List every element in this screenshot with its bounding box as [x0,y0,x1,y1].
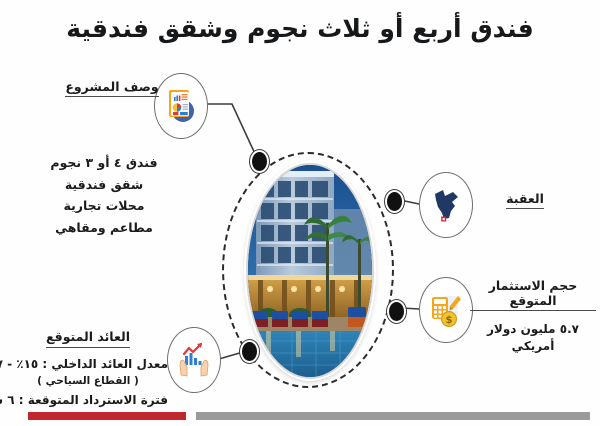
list-item: محلات تجارية [38,195,170,217]
investment-value: ٥.٧ مليون دولار أمريكي [470,321,596,356]
list-item: فندق ٤ أو ٣ نجوم [38,152,170,174]
return-block: العائد المتوقع معدل العائد الداخلي : ١٥٪… [8,326,168,407]
report-document-icon [164,87,198,125]
list-item: شقق فندقية [38,174,170,196]
footer-red-bar [28,412,186,420]
jordan-map-icon [429,185,463,225]
investment-heading: حجم الاستثمار المتوقع [470,278,596,311]
return-heading: العائد المتوقع [46,329,130,348]
footer-gray-bar [196,412,590,420]
project-description-items: فندق ٤ أو ٣ نجوم شقق فندقية محلات تجارية… [38,152,170,238]
svg-text:$: $ [446,315,453,326]
project-description-heading: وصف المشروع [65,79,158,97]
infographic-slide: فندق أربع أو ثلاث نجوم وشقق فندقية [0,0,600,426]
hands-growth-chart-icon [177,341,211,379]
irr-value: معدل العائد الداخلي : ١٥٪ - ١٧٪ [8,355,168,373]
calculator-coin-icon: $ [429,291,463,329]
project-description-icon-bubble [154,73,208,139]
node-dot-return [240,340,259,363]
investment-label: حجم الاستثمار المتوقع ٥.٧ مليون دولار أم… [470,278,596,356]
location-icon-bubble [419,172,473,238]
investment-icon-bubble: $ [419,277,473,343]
node-dot-description [250,150,269,173]
list-item: مطاعم ومقاهي [38,217,170,239]
sector-note: ( القطاع السياحي ) [8,374,168,390]
payback-period: فترة الاسترداد المتوقعة : ٦ سنوات [8,393,168,407]
page-title: فندق أربع أو ثلاث نجوم وشقق فندقية [0,14,600,43]
return-icon-bubble [167,327,221,393]
hotel-pool-photo [246,163,374,379]
node-dot-location [385,190,404,213]
location-heading: العقبة [506,191,544,209]
node-dot-investment [387,300,406,323]
location-label: العقبة [480,188,570,209]
project-description-label: وصف المشروع [62,76,162,97]
